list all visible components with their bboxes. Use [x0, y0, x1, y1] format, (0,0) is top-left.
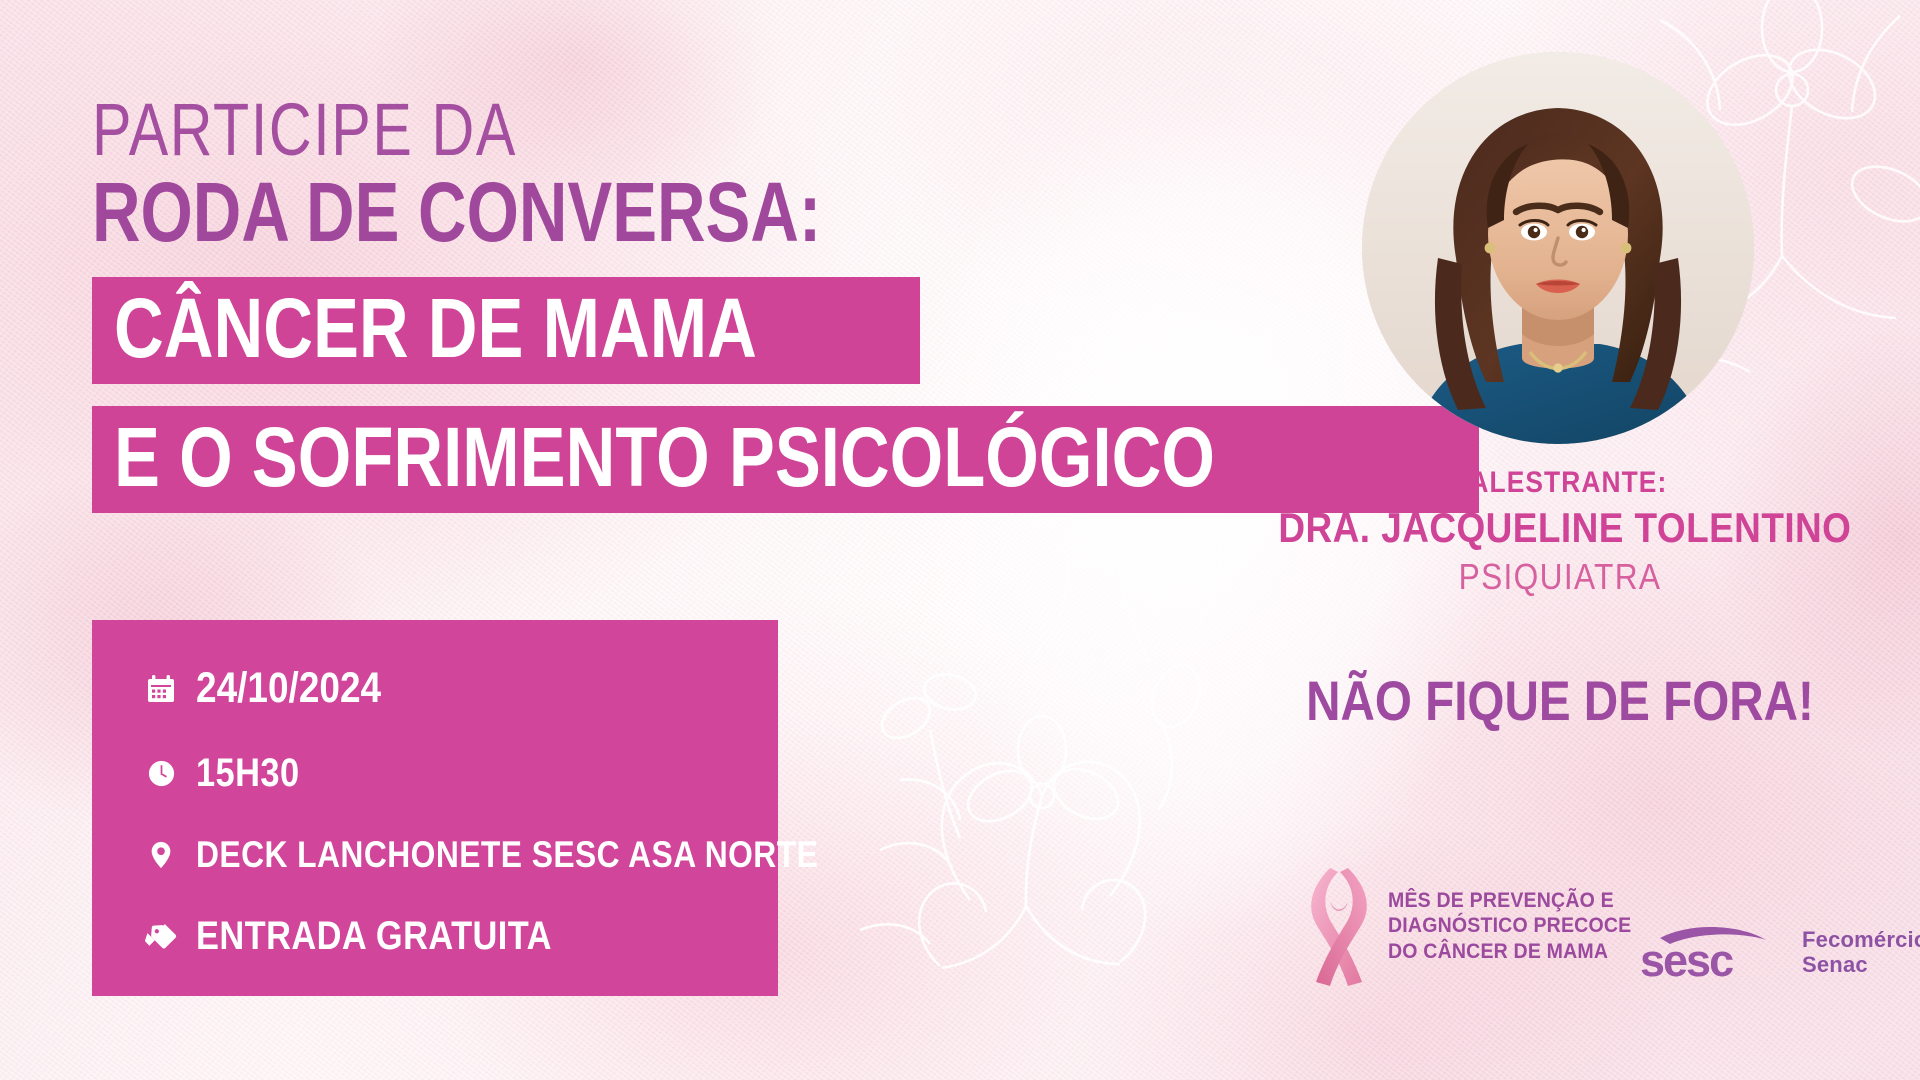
- headline-bar-subject-text: CÂNCER DE MAMA: [114, 285, 757, 372]
- event-detail-date: 24/10/2024: [92, 664, 778, 713]
- campaign-lockup: MÊS DE PREVENÇÃO E DIAGNÓSTICO PRECOCE D…: [1300, 862, 1650, 990]
- event-detail-time: 15H30: [92, 751, 778, 796]
- speaker-photo: [1362, 52, 1754, 444]
- sesc-logo: sesc: [1638, 922, 1788, 984]
- event-time-text: 15H30: [196, 751, 300, 796]
- speaker-photo-illustration: [1362, 52, 1754, 444]
- campaign-line-2: DIAGNÓSTICO PRECOCE: [1388, 913, 1631, 939]
- brand-subtitle: Fecomércio Senac: [1802, 928, 1920, 977]
- speaker-role: PSIQUIATRA: [1278, 556, 1841, 598]
- speaker-name: DRA. JACQUELINE TOLENTINO: [1278, 504, 1841, 552]
- ticket-icon: [144, 920, 178, 954]
- speaker-label: PALESTRANTE:: [1278, 466, 1841, 500]
- brand-sub-line-1: Fecomércio: [1802, 928, 1920, 953]
- event-date-text: 24/10/2024: [196, 664, 381, 713]
- event-detail-entry: ENTRADA GRATUITA: [92, 914, 778, 959]
- campaign-line-1: MÊS DE PREVENÇÃO E: [1388, 888, 1631, 914]
- event-detail-location: DECK LANCHONETE SESC ASA NORTE: [92, 834, 778, 876]
- call-to-action-text: NÃO FIQUE DE FORA!: [1288, 668, 1832, 733]
- headline-bar-subject: CÂNCER DE MAMA: [92, 277, 920, 384]
- campaign-text: MÊS DE PREVENÇÃO E DIAGNÓSTICO PRECOCE D…: [1388, 888, 1631, 965]
- headline-main: RODA DE CONVERSA:: [92, 172, 900, 253]
- speaker-block: PALESTRANTE: DRA. JACQUELINE TOLENTINO P…: [1240, 466, 1880, 598]
- calendar-icon: [144, 672, 178, 706]
- headline-bar-topic-text: E O SOFRIMENTO PSICOLÓGICO: [114, 414, 1215, 501]
- poster-canvas: PARTICIPE DA RODA DE CONVERSA: CÂNCER DE…: [0, 0, 1920, 1080]
- headline-block: PARTICIPE DA RODA DE CONVERSA: CÂNCER DE…: [92, 96, 1102, 513]
- svg-text:sesc: sesc: [1640, 935, 1733, 984]
- headline-kicker: PARTICIPE DA: [92, 96, 900, 164]
- event-location-text: DECK LANCHONETE SESC ASA NORTE: [196, 834, 818, 876]
- brand-lockup: sesc Fecomércio Senac: [1638, 922, 1920, 984]
- event-details-panel: 24/10/2024 15H30 DECK LANCHONETE SES: [92, 620, 778, 996]
- pink-ribbon-icon: [1300, 862, 1378, 990]
- campaign-line-3: DO CÂNCER DE MAMA: [1388, 939, 1631, 965]
- event-entry-text: ENTRADA GRATUITA: [196, 914, 552, 959]
- brand-sub-line-2: Senac: [1802, 953, 1920, 978]
- location-pin-icon: [144, 838, 178, 872]
- clock-icon: [144, 757, 178, 791]
